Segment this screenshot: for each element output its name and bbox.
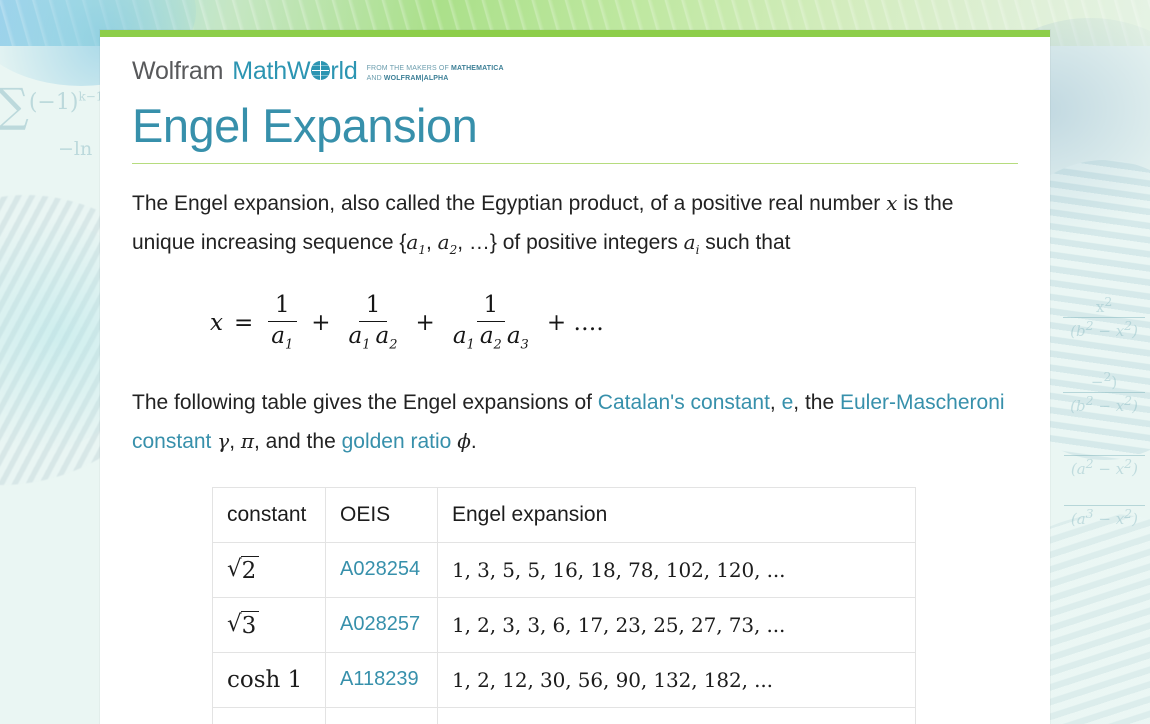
table-intro-text-2: ,	[770, 391, 782, 414]
background-fraction-numerator: x2	[1063, 295, 1145, 318]
denominator-term-a1: a1	[349, 323, 371, 349]
tagline-line-2: AND WOLFRAM|ALPHA	[367, 75, 449, 82]
table-intro-text-3: , the	[793, 391, 840, 414]
denominator-term-a1: a1	[271, 323, 293, 349]
background-fraction-numerator: −2)	[1063, 370, 1145, 393]
fraction-2-numerator: 1	[359, 293, 388, 322]
table-row: e A000027 1, 1, 2, 3, 4, 5, 6, 7, 8, 9, …	[213, 707, 916, 724]
table-intro-text-1: The following table gives the Engel expa…	[132, 391, 598, 414]
background-formula-right-4: (a3 − x2) d x	[1064, 487, 1150, 528]
table-intro-paragraph: The following table gives the Engel expa…	[132, 383, 1012, 461]
background-fraction: −2) (b2 − x2)	[1063, 370, 1145, 415]
content-card: Wolfram MathW rld FROM THE MAKERS OF MAT…	[100, 30, 1050, 724]
background-fraction-denominator: (b2 − x2)	[1063, 393, 1145, 415]
denominator-a-subscript: 1	[285, 337, 293, 352]
page-title: Engel Expansion	[132, 101, 1018, 151]
sigma-icon: ∑	[0, 78, 29, 132]
variable-a1-base: a	[406, 230, 418, 254]
cell-constant: cosh 1	[213, 652, 326, 707]
denominator-a-subscript: 1	[467, 337, 475, 352]
column-header-oeis: OEIS	[326, 487, 438, 542]
denominator-a-subscript: 2	[389, 337, 397, 352]
intro-text-3: ,	[426, 231, 438, 254]
fraction-2-denominator: a1a2	[342, 322, 405, 353]
column-header-constant: constant	[213, 487, 326, 542]
cell-constant: √3	[213, 597, 326, 652]
denominator-term-a2: a2	[480, 323, 502, 349]
table-row: √3 A028257 1, 2, 3, 3, 6, 17, 23, 25, 27…	[213, 597, 916, 652]
title-divider	[132, 163, 1018, 164]
denominator-term-a3: a3	[507, 323, 529, 349]
cell-engel-expansion: 1, 3, 5, 5, 16, 18, 78, 102, 120, ...	[438, 542, 916, 597]
cell-oeis: A028257	[326, 597, 438, 652]
cell-oeis: A028254	[326, 542, 438, 597]
background-fraction-numerator	[1064, 437, 1145, 456]
globe-icon	[311, 61, 330, 80]
denominator-a: a	[349, 323, 363, 349]
background-formula-right-2: −2) (b2 − x2) d x	[1063, 370, 1150, 415]
denominator-a: a	[507, 323, 521, 349]
background-formula-left-body: (−1)	[29, 90, 79, 115]
engel-expansion-table: constant OEIS Engel expansion √2 A028254…	[212, 487, 916, 724]
radical-sign: √	[227, 611, 242, 639]
denominator-a: a	[453, 323, 467, 349]
background-fraction: (a3 − x2)	[1064, 487, 1145, 528]
variable-a1-subscript: 1	[418, 243, 426, 257]
background-fraction-denominator: (b2 − x2)	[1063, 318, 1145, 340]
equation-tail: + ….	[547, 310, 604, 336]
cell-oeis: A118239	[326, 652, 438, 707]
tagline-line-2-pre: AND	[367, 75, 384, 82]
background-fraction-denominator: (a3 − x2)	[1064, 506, 1145, 528]
intro-text-4: , …} of positive integers	[457, 231, 683, 254]
fraction-3-denominator: a1a2a3	[446, 322, 536, 353]
background-formula-right-3: (a2 − x2) d x	[1064, 437, 1150, 478]
logo-tagline: FROM THE MAKERS OF MATHEMATICA AND WOLFR…	[367, 59, 504, 83]
table-intro-text-8: .	[471, 430, 477, 453]
symbol-gamma: γ	[217, 429, 229, 453]
link-golden-ratio[interactable]: golden ratio	[342, 430, 452, 453]
tagline-line-1-pre: FROM THE MAKERS OF	[367, 65, 451, 72]
square-root-icon: √2	[227, 556, 259, 584]
equation-fraction-2: 1 a1a2	[342, 293, 405, 353]
denominator-term-a2: a2	[376, 323, 398, 349]
cell-oeis: A000027	[326, 707, 438, 724]
table-intro-text-6: , and the	[254, 430, 342, 453]
logo-mathworld-part-a: MathW	[232, 59, 310, 84]
tagline-wolframalpha: WOLFRAM|ALPHA	[384, 75, 449, 82]
radicand: 3	[241, 611, 260, 639]
cell-engel-expansion: 1, 2, 12, 30, 56, 90, 132, 182, ...	[438, 652, 916, 707]
denominator-a-subscript: 3	[521, 337, 529, 352]
link-catalans-constant[interactable]: Catalan's constant	[598, 391, 770, 414]
oeis-link[interactable]: A028257	[340, 613, 420, 635]
tagline-line-1: FROM THE MAKERS OF MATHEMATICA	[367, 65, 504, 72]
logo-mathworld-part-b: rld	[330, 59, 357, 84]
oeis-link[interactable]: A118239	[340, 668, 419, 690]
logo-mathworld-text: MathW rld	[232, 59, 357, 84]
equation-plus-1: +	[311, 310, 330, 336]
equation-equals: =	[234, 310, 253, 336]
radicand: 2	[241, 556, 260, 584]
display-equation: x = 1 a1 + 1 a1a2 + 1 a1a2a3 + ….	[210, 291, 1018, 355]
denominator-a: a	[480, 323, 494, 349]
equation-plus-2: +	[416, 310, 435, 336]
cell-engel-expansion: 1, 1, 2, 3, 4, 5, 6, 7, 8, 9, 10, 11, 12…	[438, 707, 916, 724]
variable-ai: ai	[684, 230, 700, 254]
background-formula-left-second: −ln	[58, 138, 103, 160]
table-row: cosh 1 A118239 1, 2, 12, 30, 56, 90, 132…	[213, 652, 916, 707]
symbol-phi: ϕ	[457, 429, 471, 453]
logo-wolfram-text: Wolfram	[132, 59, 223, 84]
variable-a2-base: a	[438, 230, 450, 254]
denominator-term-a1: a1	[453, 323, 475, 349]
square-root-icon: √3	[227, 611, 259, 639]
symbol-pi: π	[241, 429, 254, 453]
equation-fraction-3: 1 a1a2a3	[446, 293, 536, 353]
intro-paragraph: The Engel expansion, also called the Egy…	[132, 184, 1012, 270]
equation-lhs: x	[210, 310, 223, 336]
cell-constant: e	[213, 707, 326, 724]
cell-constant: √2	[213, 542, 326, 597]
variable-a2: a2	[438, 230, 458, 254]
tagline-mathematica: MATHEMATICA	[451, 65, 504, 72]
fraction-1-numerator: 1	[268, 293, 297, 322]
link-e[interactable]: e	[782, 391, 794, 414]
denominator-a: a	[376, 323, 390, 349]
variable-x: x	[886, 191, 897, 215]
card-accent-bar	[100, 30, 1050, 37]
intro-text-5: such that	[699, 231, 790, 254]
background-fraction-denominator: (a2 − x2)	[1064, 456, 1145, 478]
equation-fraction-1: 1 a1	[264, 293, 300, 353]
variable-a1: a1	[406, 230, 426, 254]
column-header-engel-expansion: Engel expansion	[438, 487, 916, 542]
cell-engel-expansion: 1, 2, 3, 3, 6, 17, 23, 25, 27, 73, ...	[438, 597, 916, 652]
table-header-row: constant OEIS Engel expansion	[213, 487, 916, 542]
intro-text-1: The Engel expansion, also called the Egy…	[132, 192, 886, 215]
background-fraction: x2 (b2 − x2)	[1063, 295, 1145, 340]
fraction-3-numerator: 1	[477, 293, 506, 322]
fraction-1-denominator: a1	[264, 322, 300, 353]
table-row: √2 A028254 1, 3, 5, 5, 16, 18, 78, 102, …	[213, 542, 916, 597]
denominator-a-subscript: 2	[494, 337, 502, 352]
background-fraction-numerator	[1064, 487, 1145, 506]
denominator-a: a	[271, 323, 285, 349]
background-formula-right-1: x2 (b2 − x2) d x	[1063, 295, 1150, 340]
oeis-link[interactable]: A028254	[340, 558, 420, 580]
variable-ai-base: a	[684, 230, 696, 254]
background-formula-left: ∑(−1)k−1 −ln	[0, 78, 103, 160]
radical-sign: √	[227, 556, 242, 584]
site-logo[interactable]: Wolfram MathW rld FROM THE MAKERS OF MAT…	[132, 59, 1018, 89]
background-fraction: (a2 − x2)	[1064, 437, 1145, 478]
denominator-a-subscript: 1	[362, 337, 370, 352]
table-intro-text-5: ,	[229, 430, 241, 453]
